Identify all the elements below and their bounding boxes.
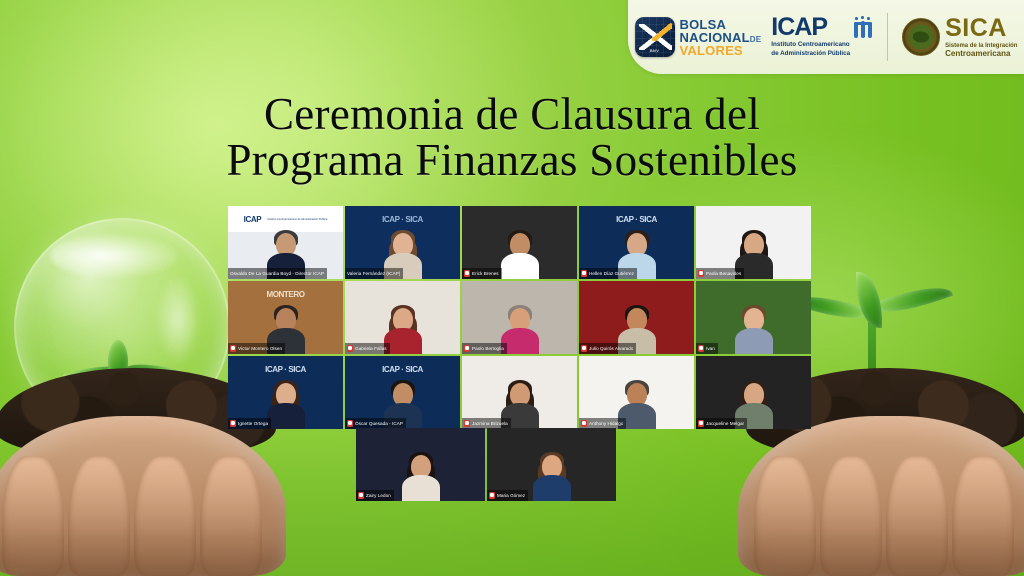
video-tile[interactable]: ICAP · SICAÓscar Quesada - ICAP: [345, 356, 460, 429]
sica-subtitle-line-2: Centroamericana: [945, 50, 1017, 58]
video-tile[interactable]: Paola Benavides: [696, 206, 811, 279]
mic-off-icon: [464, 420, 470, 427]
logo-divider: [887, 13, 888, 61]
participant-name: Ignette Ortega: [238, 421, 268, 426]
video-tile[interactable]: Anthony Hidalgo: [579, 356, 694, 429]
participant-name-bar: Zairy Ledon: [356, 490, 394, 501]
participant-name-bar: Paolo Bertoglia: [462, 343, 507, 354]
participant-name-bar: Osvaldo De La Guardia Boyd - Director IC…: [228, 268, 327, 279]
video-tile[interactable]: Erick Brenes: [462, 206, 577, 279]
finger: [134, 456, 196, 576]
mic-off-icon: [489, 492, 495, 499]
page-title: Ceremonia de Clausura del Programa Finan…: [0, 92, 1024, 184]
mic-off-icon: [581, 270, 587, 277]
mic-off-icon: [698, 270, 704, 277]
bnv-mark-label: BNV: [650, 48, 659, 53]
logo-bar: BNV BOLSA NACIONALDE VALORES ICAP Instit…: [628, 0, 1024, 74]
participant-torso: [735, 328, 773, 354]
mic-off-icon: [464, 270, 470, 277]
participant-torso: [267, 403, 305, 429]
finger: [200, 456, 262, 576]
mic-off-icon: [698, 345, 704, 352]
participant-name: Paolo Bertoglia: [472, 346, 504, 351]
participant-name-bar: Gabriela Fallas: [345, 343, 390, 354]
participant-name: Ivan: [706, 346, 715, 351]
mic-off-icon: [347, 345, 353, 352]
mic-off-icon: [347, 420, 353, 427]
participant-name: Hellen Díaz Gutiérrez: [589, 271, 634, 276]
lightbulb-highlight: [50, 234, 178, 278]
video-tile[interactable]: ICAP · SICAIgnette Ortega: [228, 356, 343, 429]
finger: [886, 456, 948, 576]
mic-off-icon: [230, 345, 236, 352]
video-tile[interactable]: Jazmina Brizuela: [462, 356, 577, 429]
participant-name: Maria Gómez: [497, 493, 525, 498]
video-tile[interactable]: Zairy Ledon: [356, 428, 485, 501]
title-line-1: Ceremonia de Clausura del: [264, 89, 760, 139]
participant-silhouette: [266, 379, 306, 429]
participant-name-bar: Hellen Díaz Gutiérrez: [579, 268, 637, 279]
video-tile[interactable]: MONTEROVictor Montero Olsen: [228, 281, 343, 354]
leaf-center-right: [856, 272, 882, 328]
mic-off-icon: [581, 345, 587, 352]
participant-name-bar: Victor Montero Olsen: [228, 343, 285, 354]
video-tile[interactable]: ICAPInstituto Centroamericano de Adminis…: [228, 206, 343, 279]
bnv-line-2-de: DE: [750, 35, 762, 44]
video-tile[interactable]: Maria Gómez: [487, 428, 616, 501]
participant-name: Osvaldo De La Guardia Boyd - Director IC…: [230, 271, 324, 276]
finger: [68, 456, 130, 576]
video-tile[interactable]: Gabriela Fallas: [345, 281, 460, 354]
icap-subtitle-line-2: de Administración Pública: [771, 50, 850, 58]
logo-icap: ICAP Instituto Centroamericano de Admini…: [771, 16, 873, 58]
sica-seal-icon: [902, 18, 940, 56]
bnv-wordmark: BOLSA NACIONALDE VALORES: [680, 18, 762, 57]
participant-name: Paola Benavides: [706, 271, 741, 276]
mic-off-icon: [698, 420, 704, 427]
participant-name-bar: Maria Gómez: [487, 490, 528, 501]
participant-name-bar: Paola Benavides: [696, 268, 744, 279]
participant-silhouette: [500, 229, 540, 279]
participant-torso: [501, 253, 539, 279]
mic-off-icon: [230, 420, 236, 427]
icap-figures-icon: [853, 17, 873, 41]
sica-word: SICA: [945, 16, 1017, 41]
video-tile[interactable]: ICAP · SICAValeria Fernández (ICAP): [345, 206, 460, 279]
participant-name: Julio Quirós Alvarado: [589, 346, 633, 351]
mic-off-icon: [464, 345, 470, 352]
bnv-check-icon: [651, 21, 672, 43]
participant-name-bar: Jacqueline Melgar: [696, 418, 747, 429]
bnv-line-2: NACIONALDE: [680, 31, 762, 44]
finger: [820, 456, 882, 576]
video-grid-last-row: Zairy LedonMaria Gómez: [356, 428, 616, 501]
participant-name-bar: Ivan: [696, 343, 718, 354]
participant-name: Victor Montero Olsen: [238, 346, 282, 351]
participant-name-bar: Ignette Ortega: [228, 418, 271, 429]
finger: [754, 456, 816, 576]
participant-name-bar: Erick Brenes: [462, 268, 502, 279]
participant-torso: [402, 475, 440, 501]
participant-name: Zairy Ledon: [366, 493, 391, 498]
virtual-background-subtitle: Instituto Centroamericano de Administrac…: [267, 218, 327, 221]
participant-name: Erick Brenes: [472, 271, 499, 276]
participant-silhouette: [401, 451, 441, 501]
bnv-line-3: VALORES: [680, 44, 762, 57]
participant-silhouette: [532, 451, 572, 501]
participant-name: Gabriela Fallas: [355, 346, 387, 351]
video-grid: ICAPInstituto Centroamericano de Adminis…: [228, 206, 811, 429]
finger: [2, 456, 64, 576]
participant-name: Anthony Hidalgo: [589, 421, 623, 426]
title-line-2: Programa Finanzas Sostenibles: [0, 138, 1024, 184]
icap-wordmark: ICAP: [771, 16, 850, 39]
participant-name: Óscar Quesada - ICAP: [355, 421, 403, 426]
participant-torso: [533, 475, 571, 501]
mic-off-icon: [581, 420, 587, 427]
sica-wordmark: SICA Sistema de la Integración Centroame…: [945, 16, 1017, 58]
video-tile[interactable]: ICAP · SICAHellen Díaz Gutiérrez: [579, 206, 694, 279]
logo-sica: SICA Sistema de la Integración Centroame…: [902, 16, 1017, 58]
logo-bolsa-nacional-de-valores: BNV BOLSA NACIONALDE VALORES: [635, 17, 762, 57]
video-tile[interactable]: Paolo Bertoglia: [462, 281, 577, 354]
slide-canvas: BNV BOLSA NACIONALDE VALORES ICAP Instit…: [0, 0, 1024, 576]
bnv-mark-icon: BNV: [635, 17, 675, 57]
participant-name: Jazmina Brizuela: [472, 421, 508, 426]
finger: [952, 456, 1014, 576]
participant-name-bar: Julio Quirós Alvarado: [579, 343, 636, 354]
participant-name: Jacqueline Melgar: [706, 421, 744, 426]
video-tile[interactable]: Ivan: [696, 281, 811, 354]
participant-name: Valeria Fernández (ICAP): [347, 271, 400, 276]
mic-off-icon: [358, 492, 364, 499]
icap-subtitle-line-1: Instituto Centroamericano: [771, 41, 850, 49]
participant-name-bar: Valeria Fernández (ICAP): [345, 268, 403, 279]
video-tile[interactable]: Jacqueline Melgar: [696, 356, 811, 429]
participant-silhouette: [734, 304, 774, 354]
video-tile[interactable]: Julio Quirós Alvarado: [579, 281, 694, 354]
